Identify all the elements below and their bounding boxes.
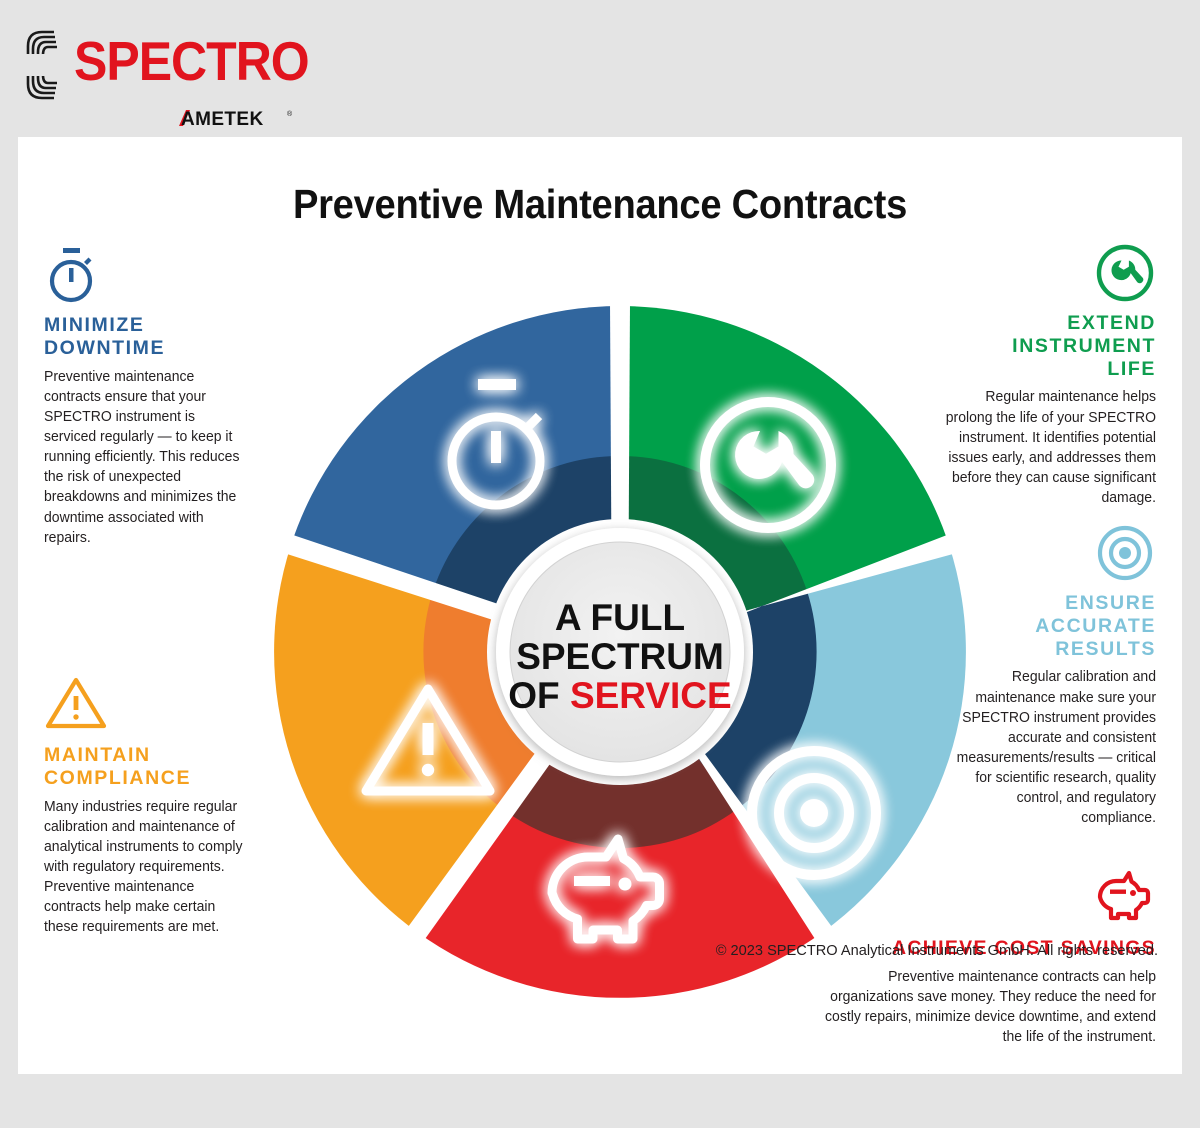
heading-line: MINIMIZE — [44, 314, 145, 336]
heading-line: INSTRUMENT — [1012, 335, 1156, 357]
ametek-logo: AMETEK ® — [177, 106, 295, 130]
heading-line: ENSURE — [1065, 592, 1156, 614]
block-body: Many industries require regular calibrat… — [44, 797, 251, 938]
svg-text:OF SERVICE: OF SERVICE — [508, 675, 731, 716]
svg-text:A FULL: A FULL — [555, 597, 685, 638]
block-maintain-compliance: MAINTAIN COMPLIANCE Many industries requ… — [44, 674, 260, 938]
warning-triangle-icon — [44, 674, 260, 738]
heading-line: COMPLIANCE — [44, 767, 191, 789]
stopwatch-icon — [44, 244, 254, 308]
svg-text:®: ® — [287, 110, 293, 118]
block-heading: MINIMIZE DOWNTIME — [44, 314, 254, 360]
svg-text:AMETEK: AMETEK — [181, 109, 264, 130]
page-title: Preventive Maintenance Contracts — [59, 181, 1142, 228]
copyright-footer: © 2023 SPECTRO Analytical Instruments Gm… — [18, 943, 1158, 959]
block-body: Preventive maintenance contracts ensure … — [44, 367, 246, 548]
header-bar: SPECTRO AMETEK ® — [0, 0, 1200, 137]
heading-line: DOWNTIME — [44, 337, 165, 359]
infographic-card: Preventive Maintenance Contracts MINIMIZ… — [18, 137, 1182, 1074]
spectrum-lines-mark — [22, 28, 72, 102]
heading-line: EXTEND — [1067, 312, 1156, 334]
heading-line: MAINTAIN — [44, 744, 151, 766]
heading-line: ACCURATE — [1035, 615, 1156, 637]
heading-line: LIFE — [1107, 358, 1156, 380]
heading-line: RESULTS — [1055, 638, 1156, 660]
service-wheel: A FULL SPECTRUM OF SERVICE — [250, 257, 990, 1047]
spectro-wordmark: SPECTRO — [74, 34, 309, 89]
spectro-logo[interactable]: SPECTRO AMETEK ® — [22, 24, 282, 114]
block-minimize-downtime: MINIMIZE DOWNTIME Preventive maintenance… — [44, 244, 254, 548]
block-heading: MAINTAIN COMPLIANCE — [44, 744, 260, 790]
svg-text:SPECTRUM: SPECTRUM — [516, 636, 724, 677]
